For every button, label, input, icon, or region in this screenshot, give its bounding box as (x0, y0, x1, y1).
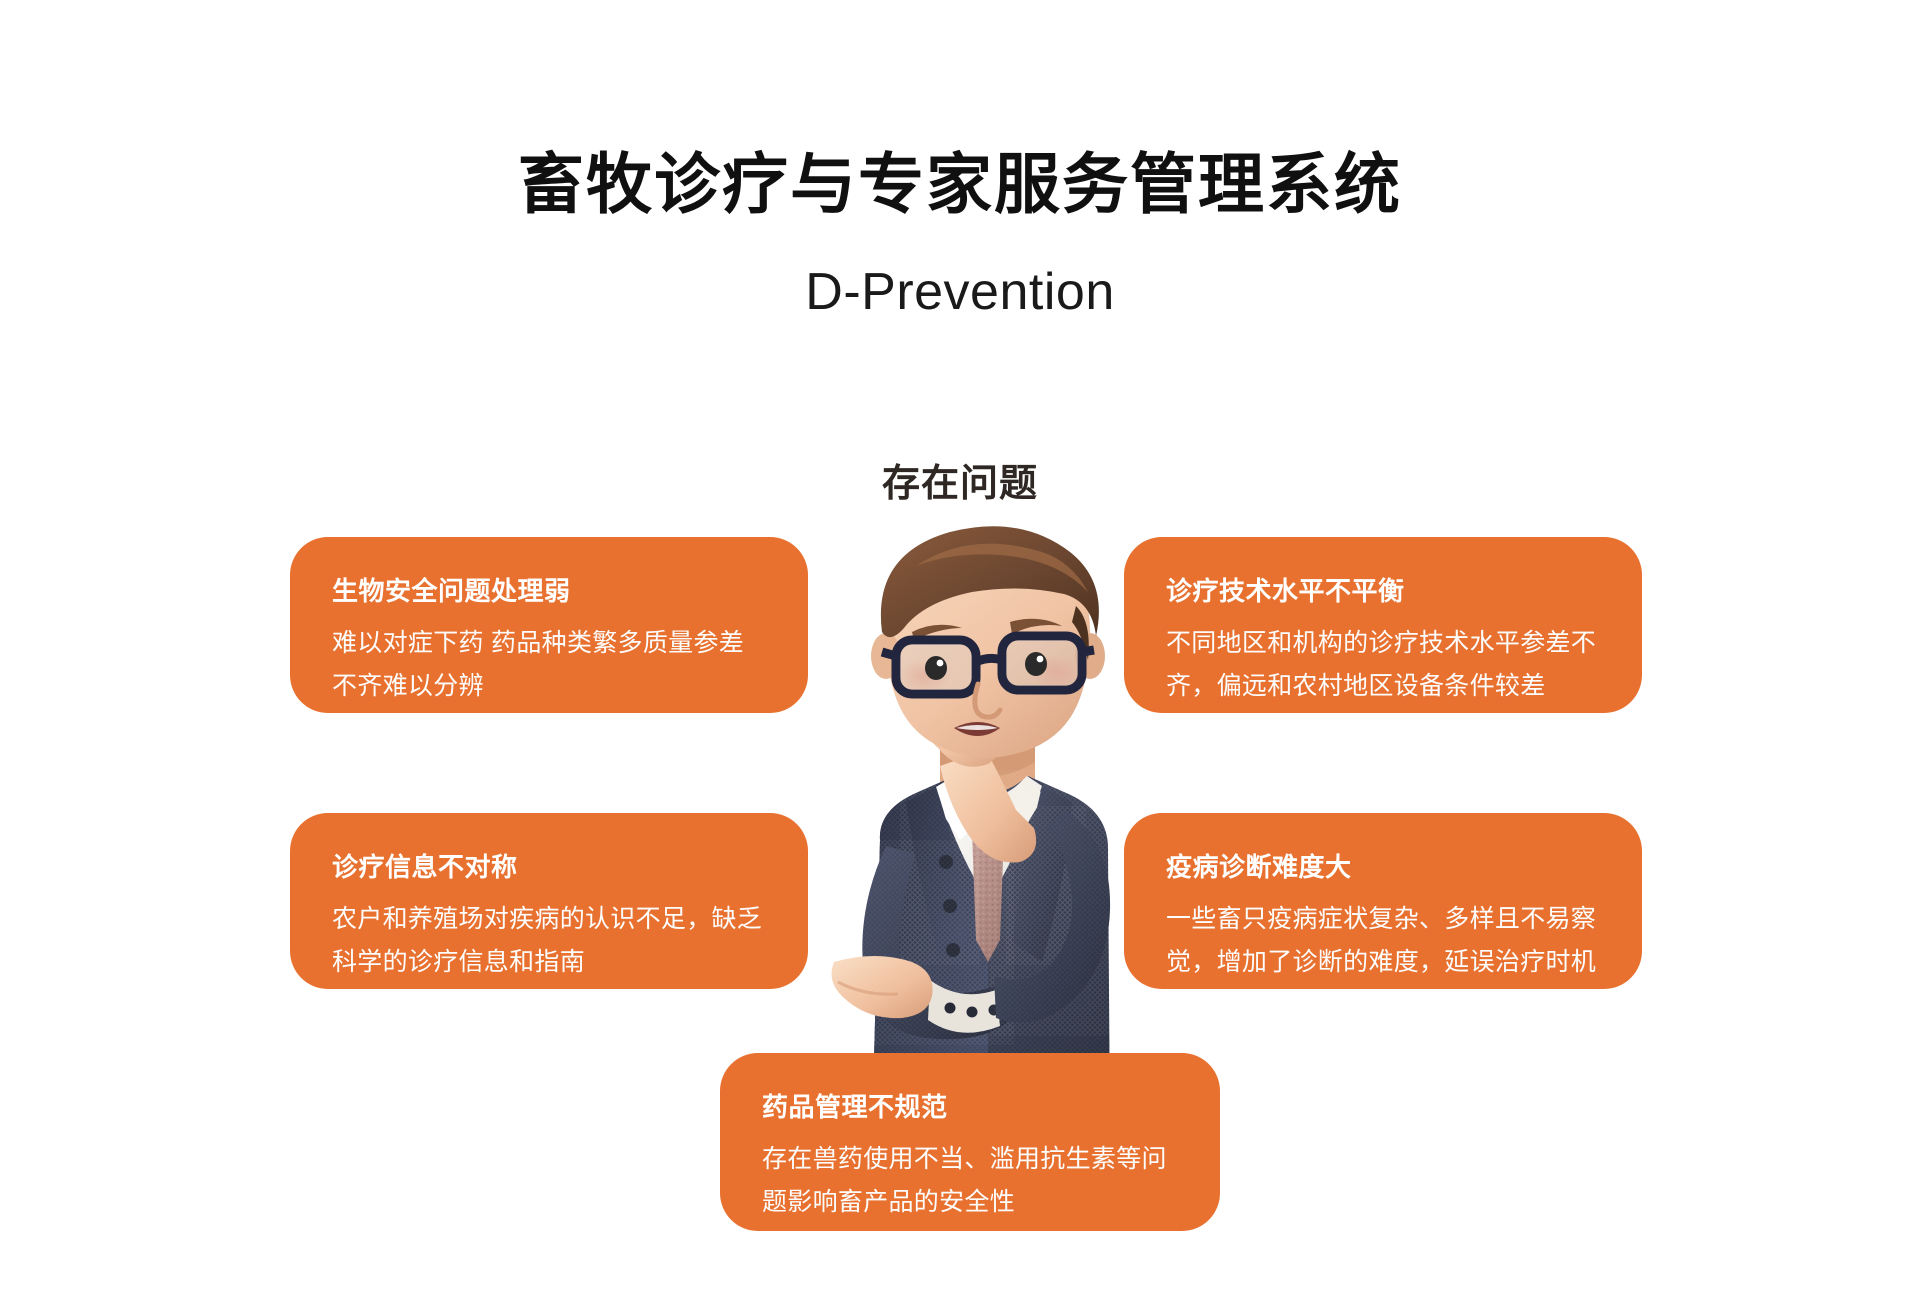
problem-card-title: 疫病诊断难度大 (1166, 851, 1600, 884)
character-neck (940, 723, 1035, 808)
problem-card-body: 难以对症下药 药品种类繁多质量参差不齐难以分辨 (332, 622, 766, 708)
problem-card-info-asymmetry[interactable]: 诊疗信息不对称 农户和养殖场对疾病的认识不足，缺乏科学的诊疗信息和指南 (290, 813, 808, 989)
section-heading: 存在问题 (0, 452, 1920, 507)
problem-card-tech-level[interactable]: 诊疗技术水平不平衡 不同地区和机构的诊疗技术水平参差不齐，偏远和农村地区设备条件… (1124, 537, 1642, 713)
thinking-businessman-illustration (820, 510, 1160, 1130)
character-head (886, 544, 1090, 758)
character-forearm-to-chin (940, 750, 1036, 863)
problem-card-body: 一些畜只疫病症状复杂、多样且不易察觉，增加了诊断的难度，延误治疗时机 (1166, 898, 1600, 984)
problem-card-biosafety[interactable]: 生物安全问题处理弱 难以对症下药 药品种类繁多质量参差不齐难以分辨 (290, 537, 808, 713)
character-collar (932, 778, 988, 840)
character-nose (975, 684, 1000, 717)
page-subtitle: D-Prevention (0, 264, 1920, 321)
character-hand-resting (832, 956, 933, 1018)
character-eye-right (1025, 652, 1047, 676)
problem-card-body: 不同地区和机构的诊疗技术水平参差不齐，偏远和农村地区设备条件较差 (1166, 622, 1600, 708)
character-ear-right (1075, 633, 1105, 679)
problem-card-title: 生物安全问题处理弱 (332, 575, 766, 608)
problem-card-drug-management[interactable]: 药品管理不规范 存在兽药使用不当、滥用抗生素等问题影响畜产品的安全性 (720, 1053, 1220, 1231)
character-ear-left (871, 633, 901, 679)
slide-root: 畜牧诊疗与专家服务管理系统 D-Prevention 存在问题 (0, 0, 1920, 1303)
problem-card-diagnosis[interactable]: 疫病诊断难度大 一些畜只疫病症状复杂、多样且不易察觉，增加了诊断的难度，延误治疗… (1124, 813, 1642, 989)
problem-card-body: 农户和养殖场对疾病的认识不足，缺乏科学的诊疗信息和指南 (332, 898, 766, 984)
problem-card-body: 存在兽药使用不当、滥用抗生素等问题影响畜产品的安全性 (762, 1138, 1178, 1224)
page-title: 畜牧诊疗与专家服务管理系统 (0, 148, 1920, 221)
character-hair (881, 526, 1099, 637)
problem-card-title: 药品管理不规范 (762, 1091, 1178, 1124)
character-left-arm (994, 810, 1110, 1023)
character-eyebrow-right (1010, 619, 1062, 634)
character-eye-left (925, 656, 947, 680)
character-mouth (954, 722, 1000, 736)
glasses-icon (882, 636, 1094, 694)
character-right-arm (862, 846, 1010, 1039)
sleeve-buttons (945, 1003, 1000, 1018)
character-shirt (936, 776, 1042, 902)
character-eyebrow-left (912, 625, 962, 640)
problem-card-title: 诊疗技术水平不平衡 (1166, 575, 1600, 608)
problem-card-title: 诊疗信息不对称 (332, 851, 766, 884)
character-tie (972, 814, 1004, 962)
character-hand-chin (928, 706, 999, 767)
